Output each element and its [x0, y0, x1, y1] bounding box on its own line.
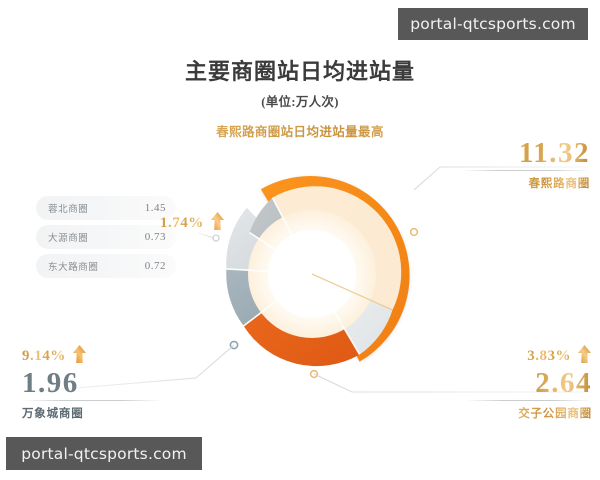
- callout-dongda-pct: 1.74%: [160, 215, 204, 232]
- callout-chunxi-label: 春熙路商圈: [462, 171, 590, 191]
- table-row-value: 0.72: [145, 260, 166, 272]
- chart-canvas: 主要商圈站日均进站量 (单位:万人次) 春熙路商圈站日均进站量最高 蓉北商圈 1…: [0, 0, 600, 480]
- highlight-note: 春熙路商圈站日均进站量最高: [0, 121, 600, 140]
- callout-jiaozi-label: 交子公园商圈: [466, 401, 592, 421]
- unit-note: (单位:万人次): [0, 91, 600, 110]
- callout-jiaozi-value: 2.64: [466, 368, 592, 398]
- table-row-label: 大源商圈: [48, 230, 145, 244]
- callout-jiaozi: 3.83% 2.64 交子公园商圈: [466, 345, 592, 421]
- mini-table: 蓉北商圈 1.45 大源商圈 0.73 东大路商圈 0.72: [36, 196, 176, 283]
- arrow-up-icon: [577, 345, 592, 368]
- table-row: 东大路商圈 0.72: [36, 254, 176, 278]
- arrow-up-icon: [72, 345, 87, 368]
- callout-jiaozi-pct: 3.83%: [527, 348, 571, 365]
- callout-wanxiang-value: 1.96: [22, 368, 162, 398]
- watermark-top-text: portal-qtcsports.com: [410, 15, 576, 33]
- callout-wanxiang: 9.14% 1.96 万象城商圈: [22, 345, 162, 421]
- page-title: 主要商圈站日均进站量: [0, 58, 600, 86]
- callout-wanxiang-pct: 9.14%: [22, 348, 66, 365]
- table-row-label: 东大路商圈: [48, 259, 145, 273]
- callout-wanxiang-label: 万象城商圈: [22, 401, 162, 421]
- title-block: 主要商圈站日均进站量 (单位:万人次) 春熙路商圈站日均进站量最高: [0, 58, 600, 140]
- watermark-bottom: portal-qtcsports.com: [6, 437, 202, 470]
- callout-chunxi: 11.32 春熙路商圈: [462, 138, 590, 191]
- table-row-label: 蓉北商圈: [48, 201, 145, 215]
- arrow-up-icon: [210, 212, 225, 235]
- watermark-top: portal-qtcsports.com: [398, 8, 588, 40]
- table-row: 大源商圈 0.73: [36, 225, 176, 249]
- table-row: 蓉北商圈 1.45: [36, 196, 176, 220]
- watermark-bottom-text: portal-qtcsports.com: [21, 445, 187, 463]
- callout-dongda: 1.74%: [160, 212, 246, 235]
- callout-chunxi-value: 11.32: [462, 138, 590, 168]
